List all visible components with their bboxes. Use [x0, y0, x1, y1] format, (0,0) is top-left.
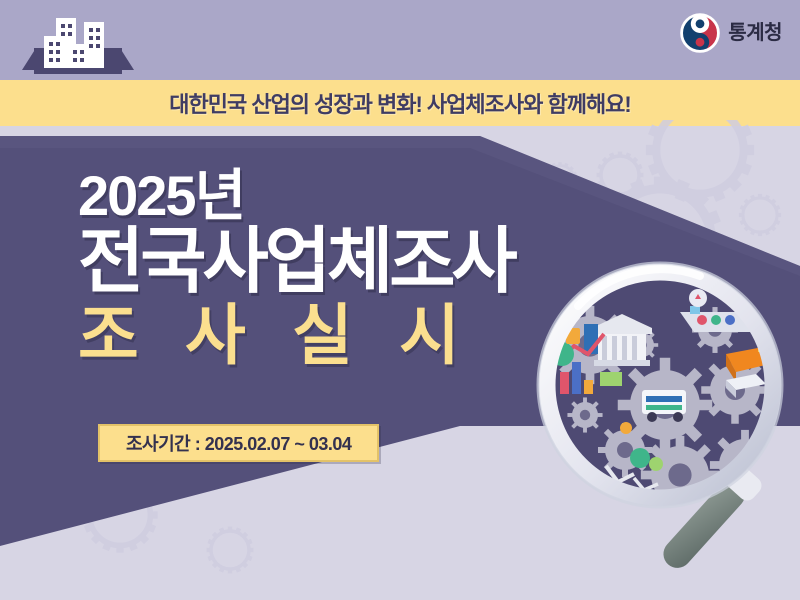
slogan-text: 대한민국 산업의 성장과 변화! 사업체조사와 함께해요!: [0, 80, 800, 126]
headline-year: 2025년: [78, 168, 638, 224]
poster-canvas: 통계청 대한민국 산업의 성장과 변화! 사업체조사와 함께해요! 2025년 …: [0, 0, 800, 600]
city-buildings-icon: [18, 12, 138, 82]
headline-action: 조 사 실 시: [78, 301, 638, 370]
korea-government-taeguk-icon: [680, 13, 720, 53]
survey-period-badge: 조사기간 : 2025.02.07 ~ 03.04: [98, 424, 379, 462]
agency-name-label: 통계청: [728, 23, 782, 43]
headline-survey-name: 전국사업체조사: [78, 226, 638, 299]
government-logo: 통계청: [680, 10, 782, 56]
headline-block: 2025년 전국사업체조사 조 사 실 시: [78, 168, 638, 371]
